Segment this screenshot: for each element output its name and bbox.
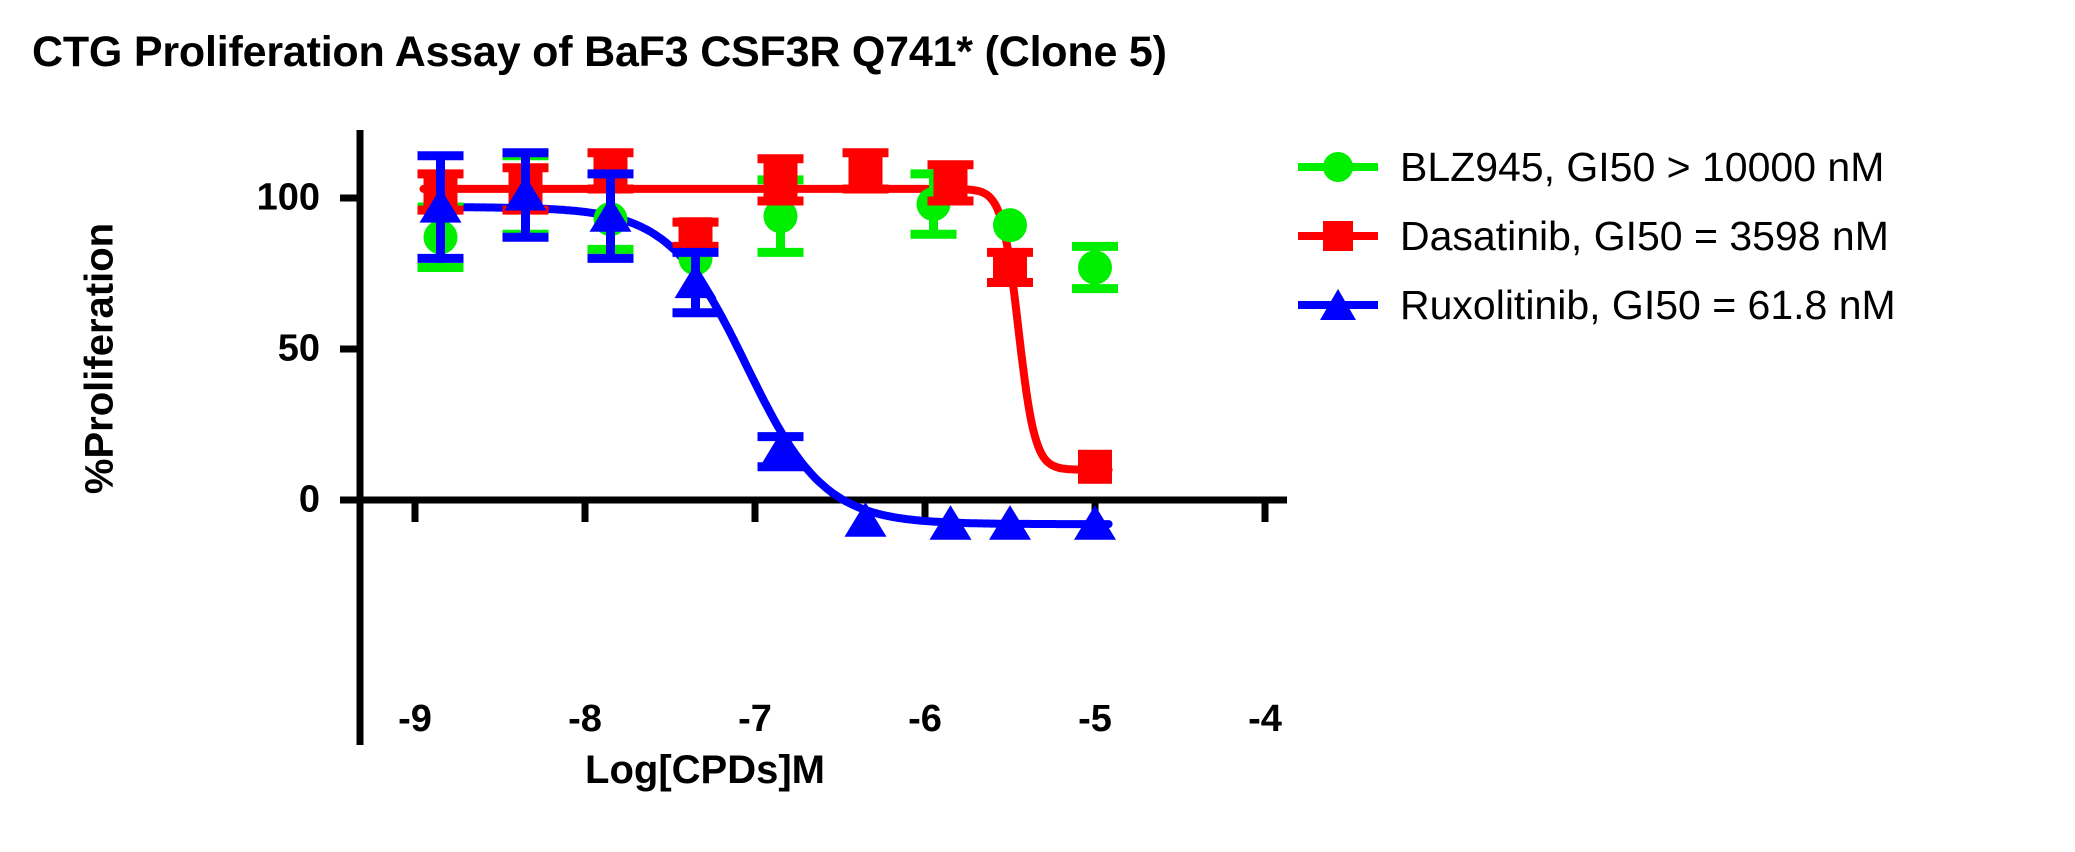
x-tick-label: -9 <box>398 698 432 741</box>
x-tick-label: -6 <box>908 698 942 741</box>
marker-square <box>934 166 968 200</box>
x-tick-label: -8 <box>568 698 602 741</box>
marker-square <box>679 217 713 251</box>
legend-item-3[interactable]: Ruxolitinib, GI50 = 61.8 nM <box>1296 276 1896 334</box>
y-axis-title: %Proliferation <box>78 199 123 519</box>
x-tick-label: -7 <box>738 698 772 741</box>
marker-circle <box>993 208 1027 242</box>
y-tick-label: 0 <box>200 479 320 522</box>
y-tick-labels: 050100 <box>190 0 320 852</box>
y-tick-label: 50 <box>200 328 320 371</box>
data-points <box>418 153 1119 540</box>
x-tick-label: -4 <box>1248 698 1282 741</box>
legend-label: BLZ945, GI50 > 10000 nM <box>1400 147 1884 188</box>
marker-square <box>993 250 1027 284</box>
x-axis-title: Log[CPDs]M <box>505 748 905 793</box>
legend-marker-circle-icon <box>1296 147 1380 187</box>
y-tick-label: 100 <box>200 177 320 220</box>
marker-triangle <box>675 264 717 299</box>
legend-item-1[interactable]: BLZ945, GI50 > 10000 nM <box>1296 138 1896 196</box>
marker-square <box>764 163 798 197</box>
plot-area: 050100 -9-8-7-6-5-4 %Proliferation Log[C… <box>0 0 1300 852</box>
legend-label: Dasatinib, GI50 = 3598 nM <box>1400 216 1889 257</box>
legend: BLZ945, GI50 > 10000 nMDasatinib, GI50 =… <box>1296 138 1896 334</box>
x-tick-label: -5 <box>1078 698 1112 741</box>
chart-root: CTG Proliferation Assay of BaF3 CSF3R Q7… <box>0 0 2075 852</box>
legend-marker-triangle-icon <box>1296 285 1380 325</box>
legend-item-2[interactable]: Dasatinib, GI50 = 3598 nM <box>1296 207 1896 265</box>
marker-square <box>849 154 883 188</box>
legend-label: Ruxolitinib, GI50 = 61.8 nM <box>1400 285 1896 326</box>
legend-marker-square-icon <box>1296 216 1380 256</box>
marker-circle <box>1078 250 1112 284</box>
marker-square <box>1078 450 1112 484</box>
legend-square-icon <box>1323 221 1353 251</box>
axes <box>340 130 1287 745</box>
legend-circle-icon <box>1323 152 1353 182</box>
